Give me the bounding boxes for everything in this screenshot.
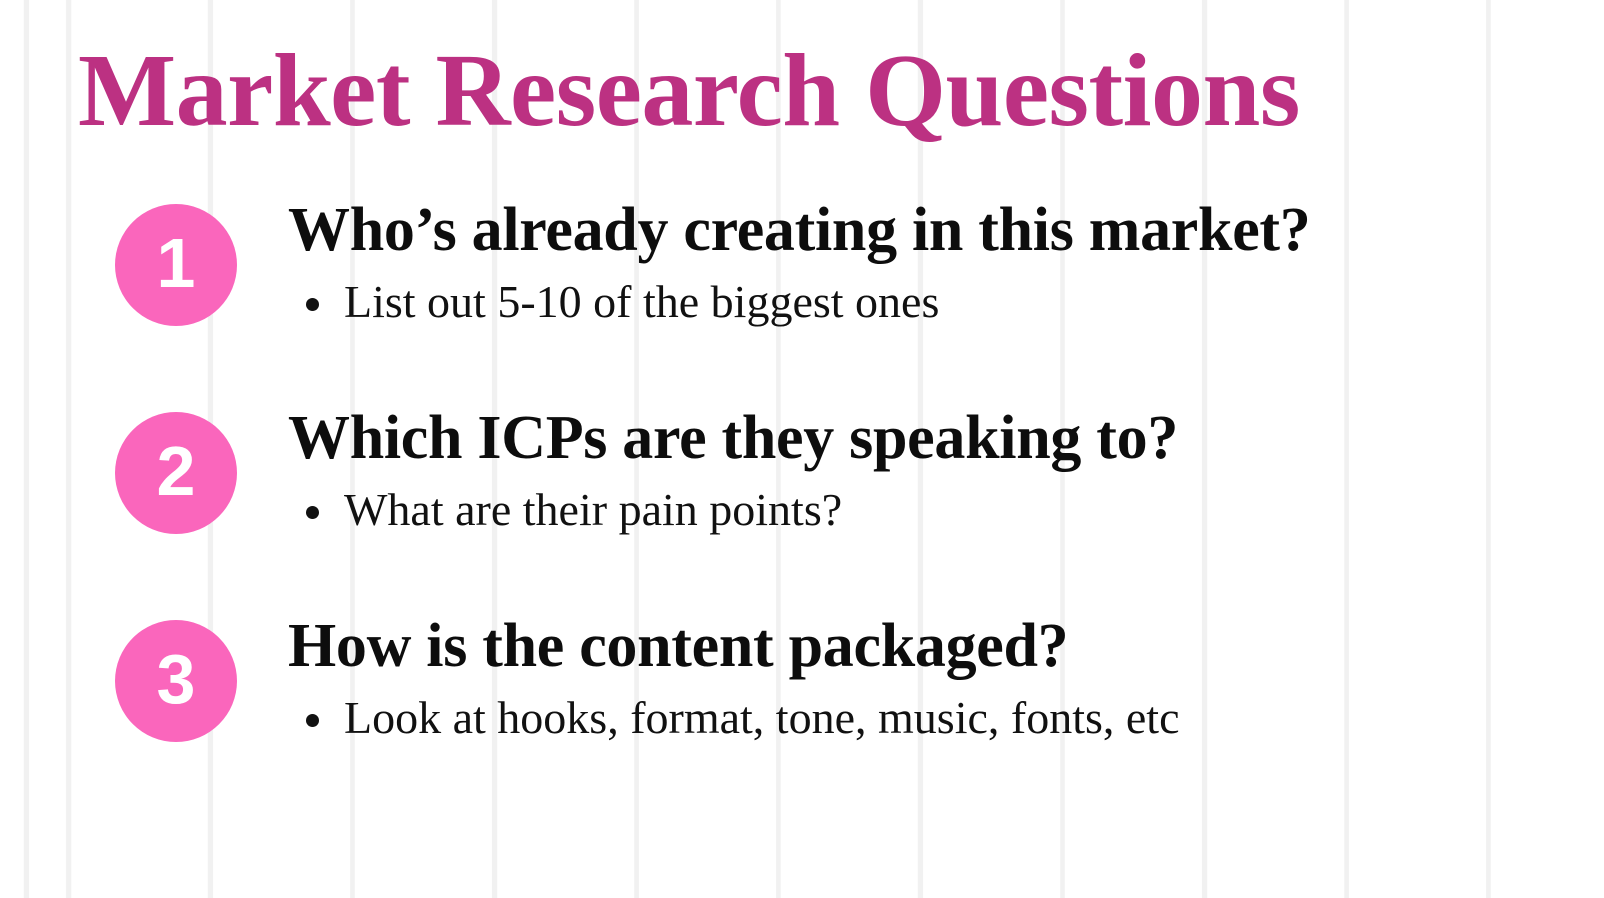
bullet-text: What are their pain points? [344,484,842,535]
list-item: 1 Who’s already creating in this market?… [0,196,1604,404]
bullet-item: List out 5-10 of the biggest ones [288,273,1584,331]
item-heading-3: How is the content packaged? [288,612,1584,681]
item-heading-2: Which ICPs are they speaking to? [288,404,1584,473]
item-body-2: Which ICPs are they speaking to? What ar… [288,404,1584,539]
item-number-label: 1 [157,228,196,298]
list-item: 3 How is the content packaged? Look at h… [0,612,1604,820]
bullet-dot-icon [306,714,319,727]
item-number-badge-2: 2 [115,412,237,534]
item-number-badge-3: 3 [115,620,237,742]
bullet-text: Look at hooks, format, tone, music, font… [344,692,1180,743]
item-number-label: 2 [157,436,196,506]
item-heading-1: Who’s already creating in this market? [288,196,1584,265]
item-number-badge-1: 1 [115,204,237,326]
page-title: Market Research Questions [78,36,1300,145]
bullet-dot-icon [306,298,319,311]
item-body-3: How is the content packaged? Look at hoo… [288,612,1584,747]
item-bullets-3: Look at hooks, format, tone, music, font… [288,689,1584,747]
bullet-text: List out 5-10 of the biggest ones [344,276,939,327]
item-bullets-2: What are their pain points? [288,481,1584,539]
list-item: 2 Which ICPs are they speaking to? What … [0,404,1604,612]
bullet-dot-icon [306,506,319,519]
bullet-item: Look at hooks, format, tone, music, font… [288,689,1584,747]
slide-canvas: Market Research Questions 1 Who’s alread… [0,0,1604,898]
item-body-1: Who’s already creating in this market? L… [288,196,1584,331]
bullet-item: What are their pain points? [288,481,1584,539]
item-bullets-1: List out 5-10 of the biggest ones [288,273,1584,331]
item-number-label: 3 [157,644,196,714]
question-list: 1 Who’s already creating in this market?… [0,196,1604,820]
